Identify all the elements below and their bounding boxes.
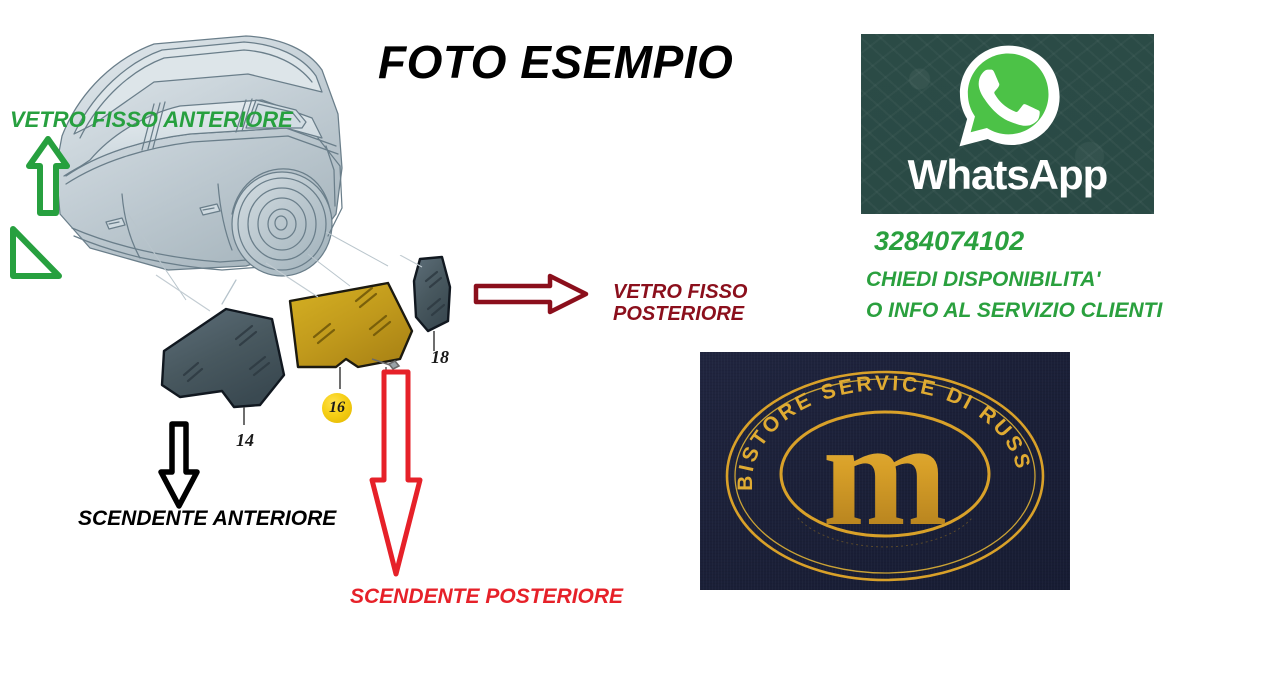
whatsapp-logo-icon xyxy=(952,40,1064,152)
label-front-fixed-glass: VETRO FISSO ANTERIORE xyxy=(10,108,293,133)
cta-line-1: CHIEDI DISPONIBILITA' xyxy=(866,268,1100,292)
label-rear-fixed-glass: VETRO FISSOPOSTERIORE xyxy=(613,281,747,326)
down-arrow-black-icon xyxy=(157,420,201,510)
poster-canvas: 14 16 17 18 FOTO ESEMPIO VETRO FISSO ANT… xyxy=(0,0,1264,678)
up-arrow-green-icon xyxy=(26,136,70,216)
label-front-drop-glass: SCENDENTE ANTERIORE xyxy=(78,507,336,531)
whatsapp-phone-number: 3284074102 xyxy=(874,226,1024,257)
whatsapp-banner: WhatsApp xyxy=(861,34,1154,214)
label-rear-fixed-glass-line2: POSTERIORE xyxy=(613,303,744,325)
page-title: FOTO ESEMPIO xyxy=(378,35,733,89)
triangle-outline-green-icon xyxy=(8,224,64,282)
down-arrow-red-icon xyxy=(368,368,424,580)
exploded-glass-parts xyxy=(150,255,490,435)
shop-logo-monogram: m xyxy=(823,391,948,557)
right-arrow-dark-red-icon xyxy=(472,272,590,316)
cta-line-2: O INFO AL SERVIZIO CLIENTI xyxy=(866,299,1162,323)
shop-logo: MRICAMBISTORE SERVICE DI RUSSO MARCO m xyxy=(700,352,1070,590)
part-number-18: 18 xyxy=(431,347,449,368)
label-rear-drop-glass: SCENDENTE POSTERIORE xyxy=(350,585,623,609)
part-number-16-marker: 16 xyxy=(322,393,352,423)
label-rear-fixed-glass-line1: VETRO FISSO xyxy=(613,281,747,303)
part-number-14: 14 xyxy=(236,430,254,451)
whatsapp-wordmark: WhatsApp xyxy=(861,151,1154,199)
